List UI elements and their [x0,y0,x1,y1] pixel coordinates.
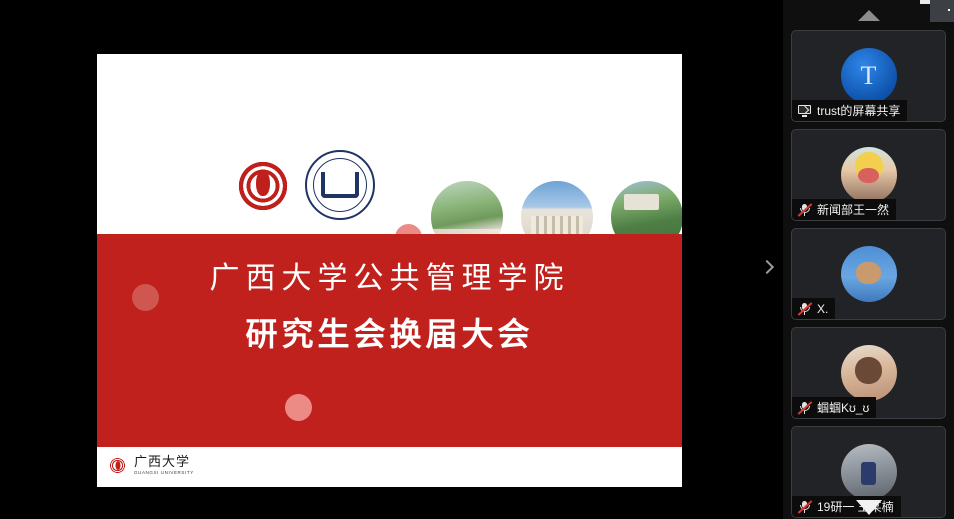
participant-label: trust的屏幕共享 [817,102,900,119]
participant-rail: T trust的屏幕共享 新闻部王一然 [783,0,954,519]
microphone-muted-icon [797,301,812,316]
presentation-slide: 广西大学公共管理学院 研究生会换届大会 广西大学 GUANGXI UNIVERS… [97,54,682,487]
slide-divider-rule [97,394,682,401]
participant-tile-2[interactable]: 新闻部王一然 [791,129,946,221]
initial-avatar: T [841,48,897,104]
slide-event-title: 研究生会换届大会 [97,309,682,355]
shared-screen-stage[interactable]: 广西大学公共管理学院 研究生会换届大会 广西大学 GUANGXI UNIVERS… [0,0,783,519]
microphone-muted-icon [797,202,812,217]
footer-logo-text: 广西大学 GUANGXI UNIVERSITY [134,455,194,476]
meeting-window: 录制中 广西大学公共管理学院 研究生会换届大会 广西大学 GUANGXI UNI… [0,0,954,519]
chevron-right-icon[interactable] [760,260,774,274]
participant-name-tag: 新闻部王一然 [792,199,896,220]
triangle-up-icon [858,10,880,21]
baby-avatar [841,345,897,401]
participant-tiles: T trust的屏幕共享 新闻部王一然 [783,30,954,519]
anime-avatar [841,147,897,203]
footer-logo-cn: 广西大学 [134,455,194,469]
participant-name-tag: 蝈蝈Kʊ_ʊ [792,397,876,418]
participant-tile-4[interactable]: 蝈蝈Kʊ_ʊ [791,327,946,419]
rail-scroll-up-button[interactable] [783,0,954,30]
footer-logo-en: GUANGXI UNIVERSITY [134,469,194,476]
slide-footer-logo: 广西大学 GUANGXI UNIVERSITY [107,455,194,476]
school-of-public-policy-seal-icon [305,150,375,220]
rail-scroll-down-button[interactable] [783,487,954,519]
triangle-down-icon [856,500,882,515]
guangxi-university-seal-icon [229,152,297,220]
participant-name-tag: X. [792,298,835,319]
decorative-dot-rule [285,394,312,421]
corner-control-chip[interactable] [930,0,954,22]
cat-avatar [841,246,897,302]
participant-label: X. [817,302,828,316]
participant-tile-screenshare[interactable]: T trust的屏幕共享 [791,30,946,122]
slide-org-title: 广西大学公共管理学院 [97,253,682,297]
participant-name-tag: trust的屏幕共享 [792,100,907,121]
microphone-muted-icon [797,400,812,415]
participant-label: 新闻部王一然 [817,201,889,218]
avatar-initial: T [861,61,877,91]
corner-strip [920,0,930,4]
screen-share-icon [797,103,812,118]
participant-label: 蝈蝈Kʊ_ʊ [817,399,869,416]
participant-tile-3[interactable]: X. [791,228,946,320]
guangxi-university-small-seal-icon [107,455,128,476]
